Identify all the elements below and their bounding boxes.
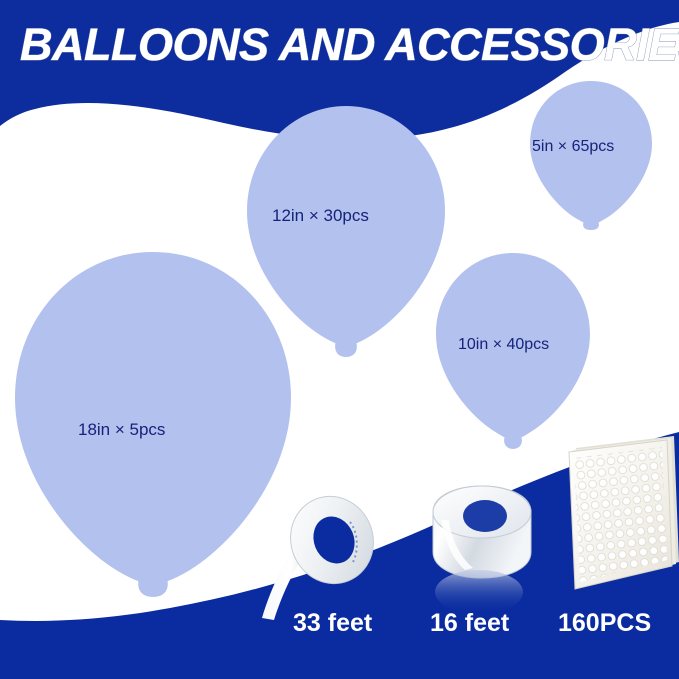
balloon-18in-knot: [138, 578, 168, 597]
balloon-5in-knot: [583, 221, 599, 230]
product-infographic: BALLOONS AND ACCESSORIES BALLOONS AND AC…: [0, 0, 679, 679]
balloon-12in-body: [247, 106, 445, 346]
glue-ring-hole: [463, 500, 507, 532]
balloon-12in-knot: [335, 341, 357, 357]
glue-tape-ring: [423, 480, 541, 620]
balloon-10in: 10in × 40pcs: [433, 250, 593, 450]
glue-ring-reflection: [435, 570, 523, 614]
glue-dot-sheet: [560, 434, 679, 599]
balloon-10in-body: [436, 253, 590, 440]
balloon-5in-body: [530, 81, 652, 225]
ribbon-roll: [258, 492, 398, 622]
balloon-10in-knot: [504, 436, 522, 449]
balloon-5in: 5in × 65pcs: [528, 78, 654, 230]
balloon-12in: 12in × 30pcs: [243, 103, 449, 358]
